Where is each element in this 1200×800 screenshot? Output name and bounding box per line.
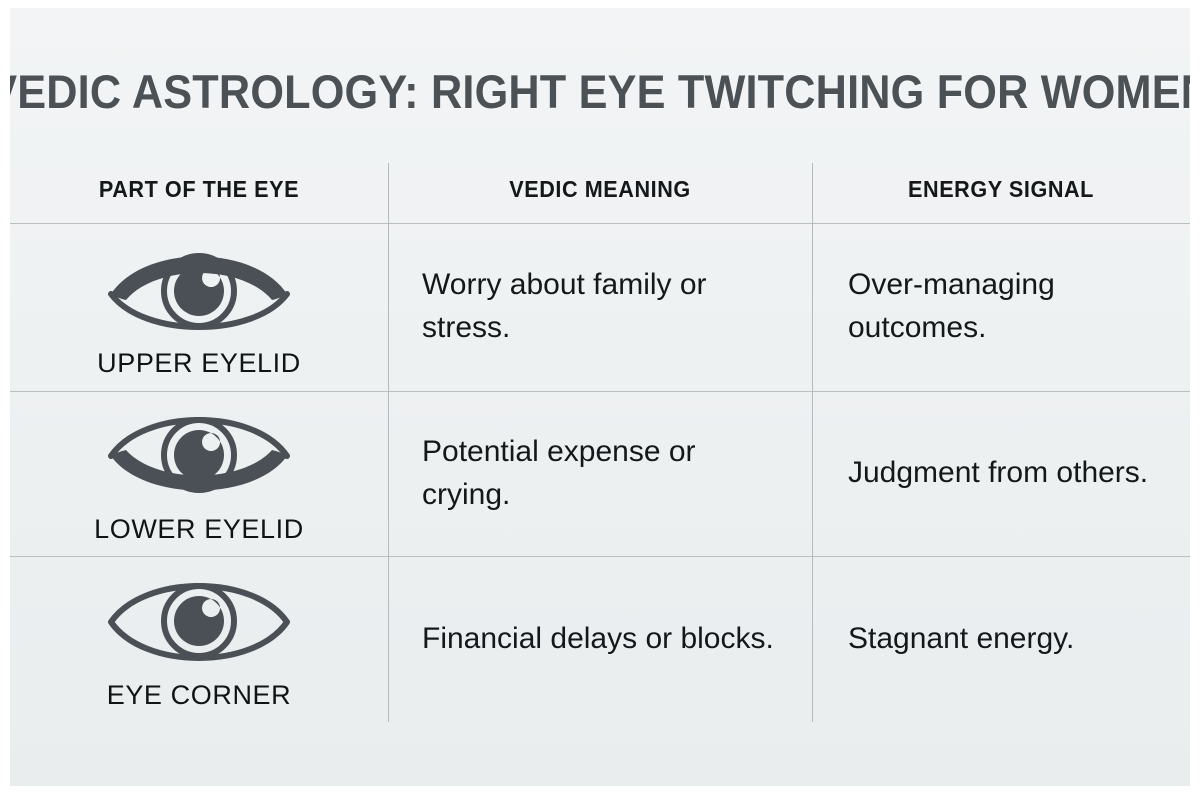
cell-energy-signal: Stagnant energy. [812, 556, 1190, 722]
table-row: Lower Eyelid Potential expense or crying… [10, 391, 1190, 556]
infographic-card: Vedic Astrology: Right Eye Twitching for… [10, 8, 1190, 786]
column-header-vedic-meaning: Vedic Meaning [401, 155, 800, 223]
column-header-part-of-the-eye: Part of the Eye [21, 155, 376, 223]
cell-part-of-the-eye: Eye Corner [10, 556, 388, 722]
energy-signal-text: Stagnant energy. [848, 618, 1168, 661]
cell-vedic-meaning: Worry about family or stress. [388, 223, 812, 391]
vedic-meaning-text: Potential expense or crying. [422, 431, 784, 516]
cell-part-of-the-eye: Lower Eyelid [10, 391, 388, 556]
cell-part-of-the-eye: Upper Eyelid [10, 223, 388, 391]
cell-energy-signal: Judgment from others. [812, 391, 1190, 556]
eye-lower-eyelid-icon [106, 404, 292, 508]
table-row: Eye Corner Financial delays or blocks. S… [10, 556, 1190, 722]
page-title-text: Vedic Astrology: Right Eye Twitching for… [10, 64, 1190, 119]
part-label: Eye Corner [107, 680, 292, 711]
cell-vedic-meaning: Potential expense or crying. [388, 391, 812, 556]
table-header-row: Part of the Eye Vedic Meaning Energy Sig… [10, 155, 1190, 223]
part-label: Upper Eyelid [97, 348, 301, 379]
energy-signal-text: Judgment from others. [848, 452, 1168, 495]
eye-upper-eyelid-icon [106, 238, 292, 342]
vedic-meaning-text: Worry about family or stress. [422, 264, 784, 349]
energy-signal-text: Over-managing outcomes. [848, 264, 1168, 349]
page-title: Vedic Astrology: Right Eye Twitching for… [10, 56, 1190, 126]
cell-vedic-meaning: Financial delays or blocks. [388, 556, 812, 722]
eye-corner-icon [106, 570, 292, 674]
table-row: Upper Eyelid Worry about family or stres… [10, 223, 1190, 391]
column-header-energy-signal: Energy Signal [823, 155, 1178, 223]
part-label: Lower Eyelid [94, 514, 304, 545]
cell-energy-signal: Over-managing outcomes. [812, 223, 1190, 391]
vedic-meaning-text: Financial delays or blocks. [422, 618, 784, 661]
